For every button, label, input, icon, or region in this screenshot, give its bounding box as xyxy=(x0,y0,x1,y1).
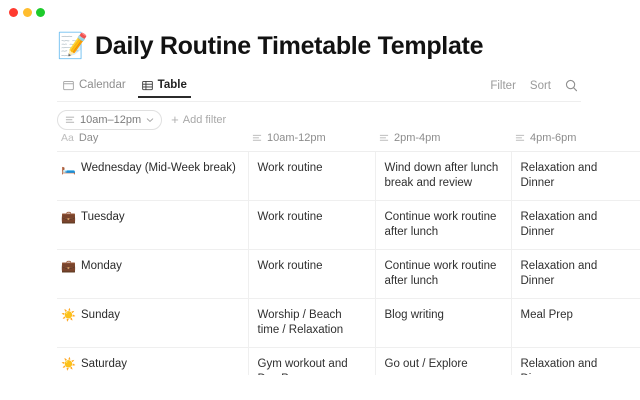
cell-4pm-6pm[interactable]: Relaxation and Dinner xyxy=(511,201,640,250)
cell-10am-12pm[interactable]: Work routine xyxy=(248,250,375,299)
filter-pill-10am-12pm[interactable]: 10am–12pm xyxy=(57,110,162,130)
plus-icon: + xyxy=(171,113,179,126)
view-bar: Calendar Table Filter xyxy=(57,77,640,101)
aa-text-icon: Aa xyxy=(61,132,74,144)
tab-table[interactable]: Table xyxy=(136,77,193,98)
table-row[interactable]: 💼 Tuesday Work routine Continue work rou… xyxy=(57,201,640,250)
text-lines-icon xyxy=(252,133,262,143)
table-grid-icon xyxy=(142,80,153,91)
chevron-down-icon xyxy=(146,116,154,124)
column-header-2pm-4pm[interactable]: 2pm-4pm xyxy=(375,132,511,152)
cell-day-label: Saturday xyxy=(81,357,127,372)
cell-day[interactable]: 💼 Monday xyxy=(57,250,248,299)
cell-4pm-6pm[interactable]: Meal Prep xyxy=(511,299,640,348)
cell-10am-12pm[interactable]: Worship / Beach time / Relaxation xyxy=(248,299,375,348)
table-row[interactable]: 🛏️ Wednesday (Mid-Week break) Work routi… xyxy=(57,152,640,201)
text-lines-icon xyxy=(379,133,389,143)
cell-2pm-4pm[interactable]: Wind down after lunch break and review xyxy=(375,152,511,201)
cell-day[interactable]: 🛏️ Wednesday (Mid-Week break) xyxy=(57,152,248,201)
cell-2pm-4pm[interactable]: Continue work routine after lunch xyxy=(375,250,511,299)
filter-lines-icon xyxy=(65,115,75,125)
sun-icon: ☀️ xyxy=(61,357,75,372)
traffic-lights xyxy=(9,8,45,17)
view-actions: Filter Sort xyxy=(490,79,578,92)
page-content: 📝 Daily Routine Timetable Template Calen… xyxy=(0,26,640,400)
cell-2pm-4pm[interactable]: Continue work routine after lunch xyxy=(375,201,511,250)
cell-day-label: Sunday xyxy=(81,308,120,323)
window-close-button[interactable] xyxy=(9,8,18,17)
filter-pill-label: 10am–12pm xyxy=(80,114,141,126)
app-window: 📝 Daily Routine Timetable Template Calen… xyxy=(0,0,640,400)
column-header-2pm-4pm-label: 2pm-4pm xyxy=(394,132,440,144)
cell-4pm-6pm[interactable]: Relaxation and Dinner xyxy=(511,250,640,299)
column-header-10am-12pm[interactable]: 10am-12pm xyxy=(248,132,375,152)
table-row[interactable]: ☀️ Sunday Worship / Beach time / Relaxat… xyxy=(57,299,640,348)
window-titlebar xyxy=(0,0,640,26)
window-minimize-button[interactable] xyxy=(23,8,32,17)
add-filter-label: Add filter xyxy=(183,114,226,126)
table-header-row: Aa Day xyxy=(57,132,640,152)
window-maximize-button[interactable] xyxy=(36,8,45,17)
cell-4pm-6pm[interactable]: Relaxation and Dinner xyxy=(511,152,640,201)
cell-day[interactable]: 💼 Tuesday xyxy=(57,201,248,250)
database-table: Aa Day xyxy=(57,132,640,400)
search-icon[interactable] xyxy=(565,79,578,92)
filter-button[interactable]: Filter xyxy=(490,80,516,92)
viewport-bottom-edge xyxy=(0,375,640,400)
cell-day[interactable]: ☀️ Sunday xyxy=(57,299,248,348)
briefcase-icon: 💼 xyxy=(61,259,75,274)
cell-2pm-4pm[interactable]: Blog writing xyxy=(375,299,511,348)
text-lines-icon xyxy=(515,133,525,143)
table-row[interactable]: 💼 Monday Work routine Continue work rout… xyxy=(57,250,640,299)
page-title: Daily Routine Timetable Template xyxy=(95,32,483,61)
calendar-icon xyxy=(63,80,74,91)
column-header-day[interactable]: Aa Day xyxy=(57,132,248,152)
column-header-4pm-6pm[interactable]: 4pm-6pm xyxy=(511,132,640,152)
page-header: 📝 Daily Routine Timetable Template xyxy=(57,32,483,61)
cell-10am-12pm[interactable]: Work routine xyxy=(248,201,375,250)
cell-10am-12pm[interactable]: Work routine xyxy=(248,152,375,201)
column-header-4pm-6pm-label: 4pm-6pm xyxy=(530,132,576,144)
memo-notepad-icon: 📝 xyxy=(57,34,85,59)
tab-calendar-label: Calendar xyxy=(79,79,126,91)
tab-calendar[interactable]: Calendar xyxy=(57,77,132,98)
bed-icon: 🛏️ xyxy=(61,161,75,176)
filter-bar: 10am–12pm + Add filter xyxy=(57,110,226,130)
add-filter-button[interactable]: + Add filter xyxy=(171,114,226,126)
cell-day-label: Wednesday (Mid-Week break) xyxy=(81,161,236,176)
sort-button[interactable]: Sort xyxy=(530,80,551,92)
tab-table-label: Table xyxy=(158,79,187,91)
column-header-10am-12pm-label: 10am-12pm xyxy=(267,132,326,144)
cell-day-label: Monday xyxy=(81,259,122,274)
sun-icon: ☀️ xyxy=(61,308,75,323)
table-body: 🛏️ Wednesday (Mid-Week break) Work routi… xyxy=(57,152,640,400)
cell-day-label: Tuesday xyxy=(81,210,125,225)
briefcase-icon: 💼 xyxy=(61,210,75,225)
column-header-day-label: Day xyxy=(79,132,99,144)
view-bar-divider xyxy=(57,101,581,102)
